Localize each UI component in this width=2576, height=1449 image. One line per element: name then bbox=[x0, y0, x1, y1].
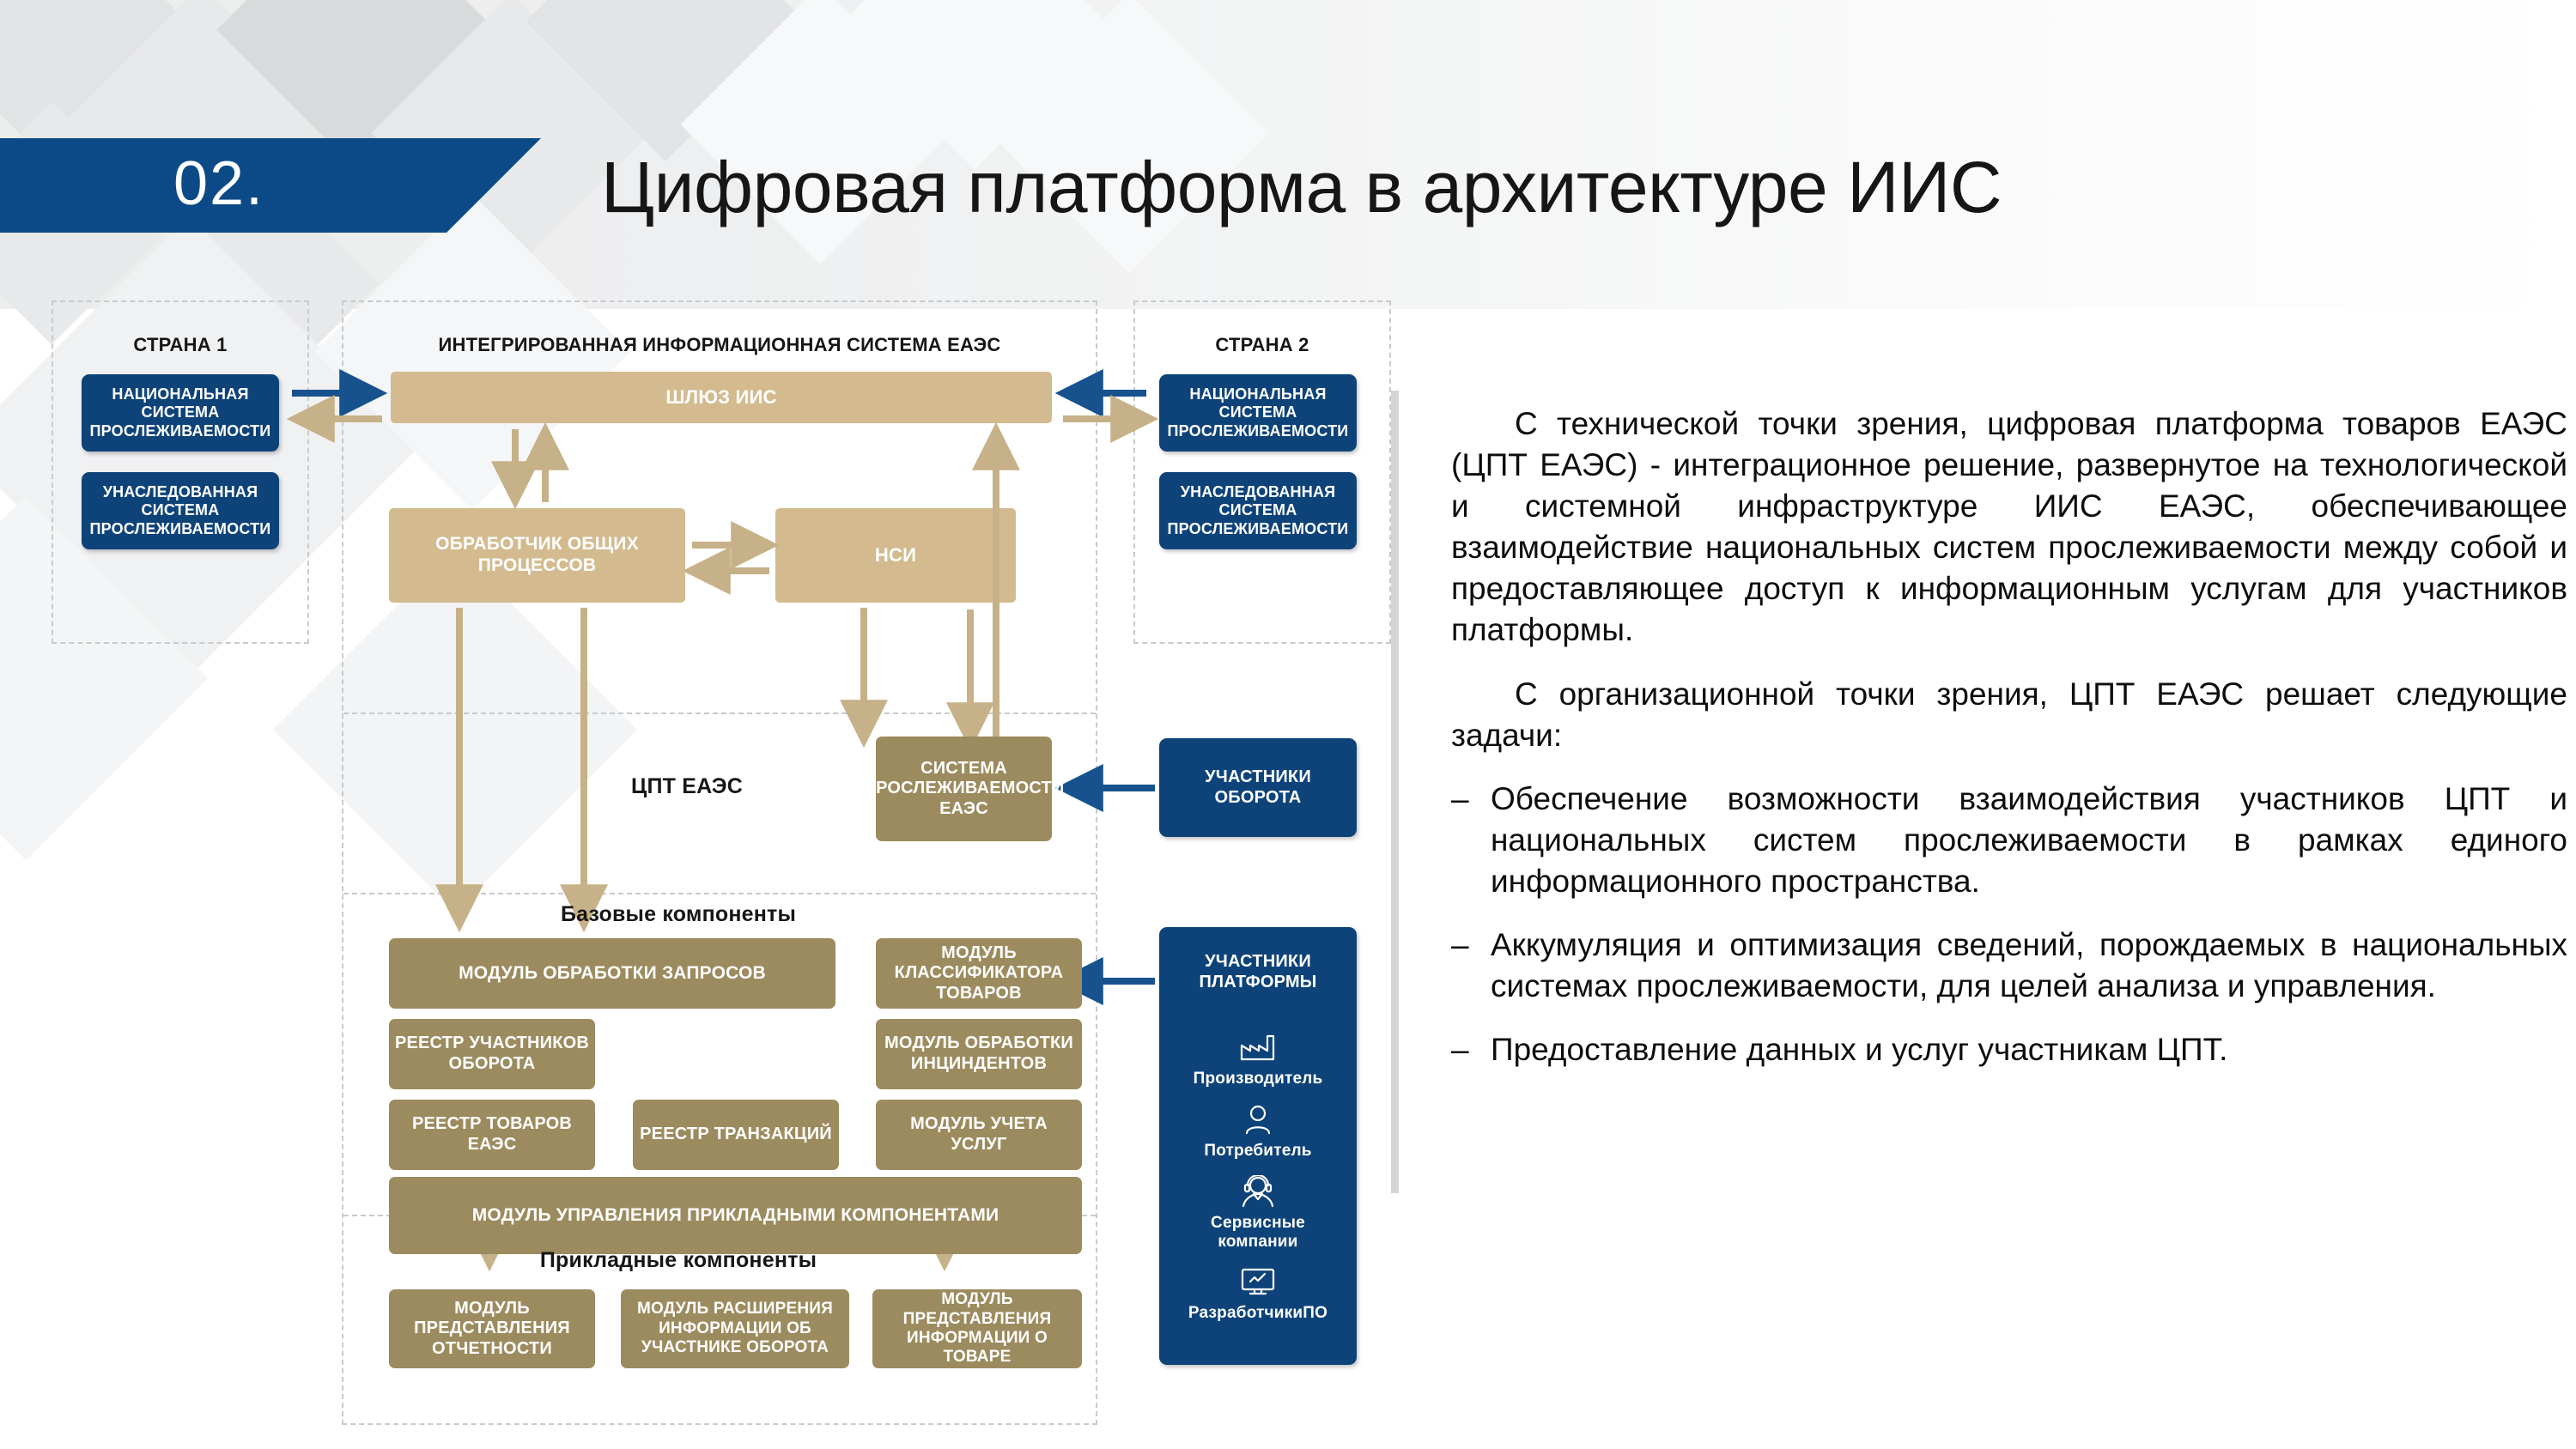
bullet-text: Обеспечение возможности взаимодействия у… bbox=[1491, 779, 2567, 902]
services-accounting-module-label: МОДУЛЬ УЧЕТА УСЛУГ bbox=[876, 1114, 1082, 1155]
monitor-icon bbox=[1238, 1264, 1278, 1299]
turnover-participants-label: УЧАСТНИКИ ОБОРОТА bbox=[1159, 767, 1357, 808]
section-number-banner: 02. bbox=[0, 138, 541, 233]
list-item: – Предоставление данных и услуг участник… bbox=[1451, 1029, 2567, 1070]
body-text-column: С технической точки зрения, цифровая пла… bbox=[1451, 403, 2567, 1093]
goods-registry-label: РЕЕСТР ТОВАРОВ ЕАЭС bbox=[389, 1114, 595, 1155]
architecture-diagram: СТРАНА 1 НАЦИОНАЛЬНАЯ СИСТЕМА ПРОСЛЕЖИВА… bbox=[0, 292, 1374, 1442]
transactions-registry-box[interactable]: РЕЕСТР ТРАНЗАКЦИЙ bbox=[633, 1100, 839, 1170]
applied-components-management-module-label: МОДУЛЬ УПРАВЛЕНИЯ ПРИКЛАДНЫМИ КОМПОНЕНТА… bbox=[467, 1205, 1005, 1227]
participant-consumer-label: Потребитель bbox=[1204, 1142, 1311, 1161]
request-processing-module-box[interactable]: МОДУЛЬ ОБРАБОТКИ ЗАПРОСОВ bbox=[389, 938, 835, 1009]
platform-participants-title: УЧАСТНИКИ ПЛАТФОРМЫ bbox=[1159, 927, 1357, 992]
page-title: Цифровая платформа в архитектуре ИИС bbox=[601, 151, 2490, 223]
paragraph-organizational: С организационной точки зрения, ЦПТ ЕАЭС… bbox=[1451, 674, 2567, 756]
incident-processing-module-box[interactable]: МОДУЛЬ ОБРАБОТКИ ИНЦИНДЕНТОВ bbox=[876, 1019, 1082, 1089]
cpt-eaes-label: ЦПТ ЕАЭС bbox=[592, 775, 781, 799]
tracking-system-box[interactable]: СИСТЕМА ПРОСЛЕЖИВАЕМОСТИ ЕАЭС bbox=[876, 737, 1052, 841]
goods-registry-box[interactable]: РЕЕСТР ТОВАРОВ ЕАЭС bbox=[389, 1100, 595, 1170]
goods-classifier-module-label: МОДУЛЬ КЛАССИФИКАТОРА ТОВАРОВ bbox=[876, 943, 1082, 1004]
applied-components-management-module-box[interactable]: МОДУЛЬ УПРАВЛЕНИЯ ПРИКЛАДНЫМИ КОМПОНЕНТА… bbox=[389, 1177, 1082, 1254]
factory-icon bbox=[1238, 1030, 1278, 1064]
participant-service-companies-label: Сервисныекомпании bbox=[1211, 1214, 1305, 1252]
request-processing-module-label: МОДУЛЬ ОБРАБОТКИ ЗАПРОСОВ bbox=[453, 963, 771, 985]
reporting-module-box[interactable]: МОДУЛЬ ПРЕДСТАВЛЕНИЯ ОТЧЕТНОСТИ bbox=[389, 1289, 595, 1368]
bullet-marker: – bbox=[1451, 779, 1491, 902]
participant-software-developers[interactable]: РазработчикиПО bbox=[1188, 1264, 1327, 1323]
goods-classifier-module-box[interactable]: МОДУЛЬ КЛАССИФИКАТОРА ТОВАРОВ bbox=[876, 938, 1082, 1009]
reporting-module-label: МОДУЛЬ ПРЕДСТАВЛЕНИЯ ОТЧЕТНОСТИ bbox=[389, 1299, 595, 1360]
platform-participants-panel[interactable]: УЧАСТНИКИ ПЛАТФОРМЫ Производитель По bbox=[1159, 927, 1357, 1365]
turnover-participants-box[interactable]: УЧАСТНИКИ ОБОРОТА bbox=[1159, 738, 1357, 837]
bullet-text: Предоставление данных и услуг участникам… bbox=[1491, 1029, 2567, 1070]
list-item: – Аккумуляция и оптимизация сведений, по… bbox=[1451, 925, 2567, 1007]
tracking-system-label: СИСТЕМА ПРОСЛЕЖИВАЕМОСТИ ЕАЭС bbox=[859, 759, 1070, 820]
bullet-text: Аккумуляция и оптимизация сведений, поро… bbox=[1491, 925, 2567, 1007]
participant-software-developers-label: РазработчикиПО bbox=[1188, 1304, 1327, 1323]
support-agent-icon bbox=[1238, 1174, 1278, 1209]
section-number: 02. bbox=[173, 153, 264, 215]
slide-header: 02. Цифровая платформа в архитектуре ИИС bbox=[0, 0, 2576, 275]
applied-components-title: Прикладные компоненты bbox=[481, 1249, 876, 1273]
turnover-participants-registry-label: РЕЕСТР УЧАСТНИКОВ ОБОРОТА bbox=[389, 1034, 595, 1074]
paragraph-technical: С технической точки зрения, цифровая пла… bbox=[1451, 403, 2567, 652]
bullet-marker: – bbox=[1451, 1029, 1491, 1070]
participant-manufacturer-label: Производитель bbox=[1194, 1070, 1323, 1088]
base-components-title: Базовые компоненты bbox=[481, 903, 876, 927]
participant-consumer[interactable]: Потребитель bbox=[1204, 1102, 1311, 1161]
services-accounting-module-box[interactable]: МОДУЛЬ УЧЕТА УСЛУГ bbox=[876, 1100, 1082, 1170]
participant-service-companies[interactable]: Сервисныекомпании bbox=[1211, 1174, 1305, 1252]
participant-info-extension-module-box[interactable]: МОДУЛЬ РАСШИРЕНИЯ ИНФОРМАЦИИ ОБ УЧАСТНИК… bbox=[621, 1289, 849, 1368]
goods-info-presentation-module-label: МОДУЛЬ ПРЕДСТАВЛЕНИЯ ИНФОРМАЦИИ О ТОВАРЕ bbox=[872, 1290, 1082, 1367]
transactions-registry-label: РЕЕСТР ТРАНЗАКЦИЙ bbox=[635, 1125, 837, 1145]
participant-info-extension-module-label: МОДУЛЬ РАСШИРЕНИЯ ИНФОРМАЦИИ ОБ УЧАСТНИК… bbox=[621, 1300, 849, 1357]
bullet-marker: – bbox=[1451, 925, 1491, 1007]
person-icon bbox=[1238, 1102, 1278, 1137]
list-item: – Обеспечение возможности взаимодействия… bbox=[1451, 779, 2567, 902]
column-divider bbox=[1391, 391, 1399, 1193]
tasks-list: – Обеспечение возможности взаимодействия… bbox=[1451, 779, 2567, 1071]
turnover-participants-registry-box[interactable]: РЕЕСТР УЧАСТНИКОВ ОБОРОТА bbox=[389, 1019, 595, 1089]
goods-info-presentation-module-box[interactable]: МОДУЛЬ ПРЕДСТАВЛЕНИЯ ИНФОРМАЦИИ О ТОВАРЕ bbox=[872, 1289, 1082, 1368]
participant-manufacturer[interactable]: Производитель bbox=[1194, 1030, 1323, 1088]
incident-processing-module-label: МОДУЛЬ ОБРАБОТКИ ИНЦИНДЕНТОВ bbox=[876, 1034, 1082, 1074]
